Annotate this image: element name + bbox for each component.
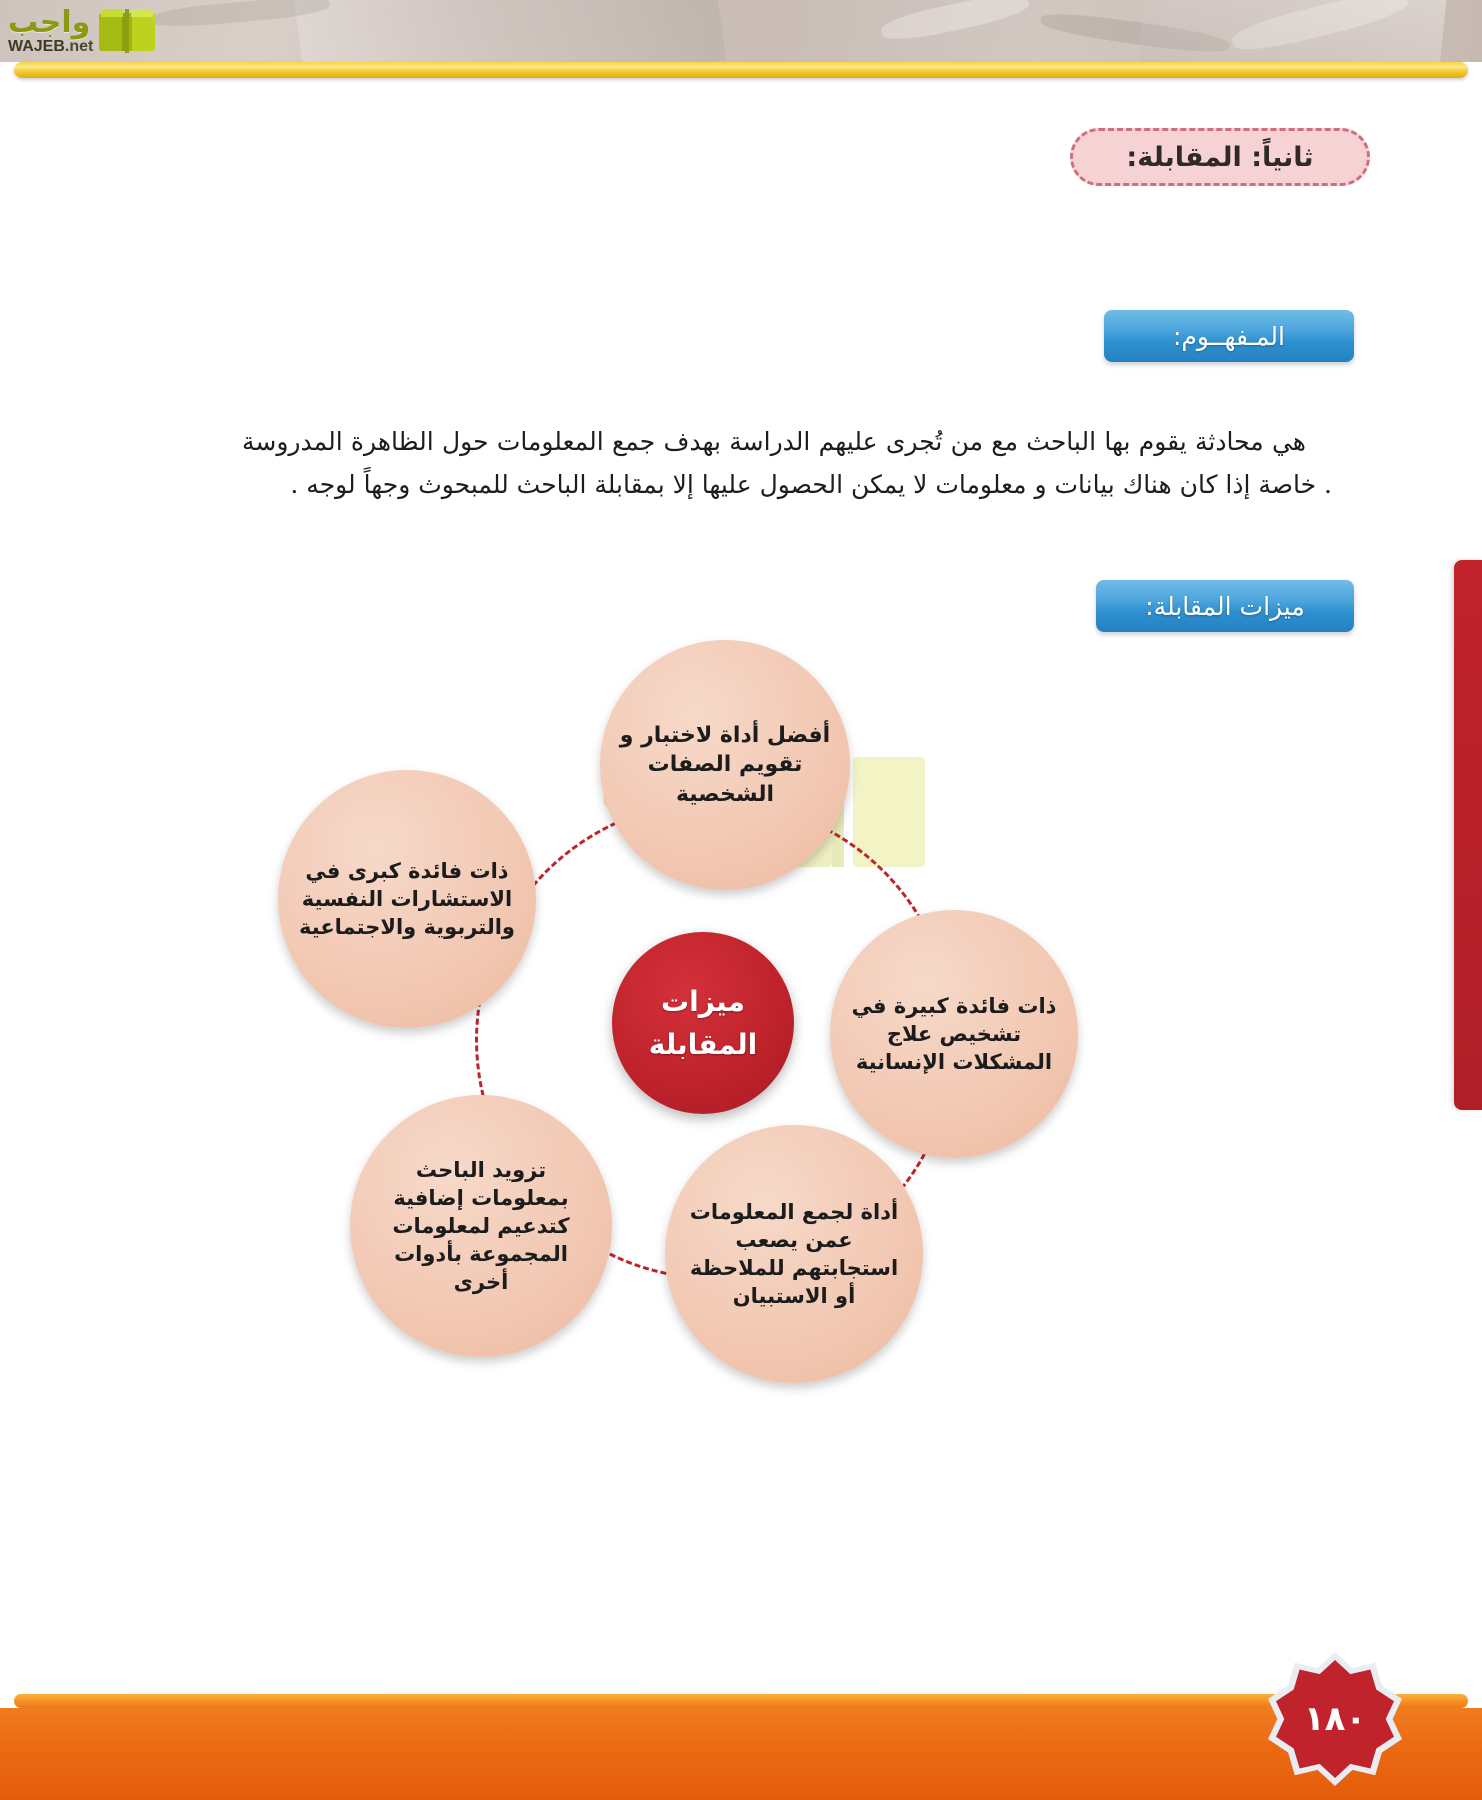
diagram-node-left: ذات فائدة كبرى في الاستشارات النفسية وال… bbox=[278, 770, 536, 1028]
watermark-book-right bbox=[853, 757, 925, 867]
page-number-text: ١٨٠ bbox=[1304, 1699, 1366, 1739]
chapter-side-tab bbox=[1454, 560, 1482, 1110]
page-footer-band bbox=[0, 1708, 1482, 1800]
logo-tld: .net bbox=[65, 38, 93, 55]
concept-paragraph-text: هي محادثة يقوم بها الباحث مع من تُجرى عل… bbox=[242, 420, 1332, 506]
book-tip-left bbox=[101, 9, 123, 17]
diagram-node-top: أفضل أداة لاختبار و تقويم الصفات الشخصية bbox=[600, 640, 850, 890]
logo-arabic-text: واجب bbox=[8, 8, 90, 38]
logo-text-block: واجب WAJEB.net bbox=[8, 8, 93, 55]
concept-heading-badge: المـفهــوم: bbox=[1104, 310, 1354, 362]
diagram-node-right: ذات فائدة كبيرة في تشخيص علاج المشكلات ا… bbox=[830, 910, 1078, 1158]
features-heading-text: ميزات المقابلة: bbox=[1145, 592, 1305, 621]
section-title-text: ثانياً: المقابلة: bbox=[1126, 142, 1313, 173]
open-book-icon bbox=[99, 9, 155, 53]
features-heading-badge: ميزات المقابلة: bbox=[1096, 580, 1354, 632]
book-page-left bbox=[99, 13, 125, 51]
book-page-right bbox=[129, 13, 155, 51]
diagram-node-top-label: أفضل أداة لاختبار و تقويم الصفات الشخصية bbox=[614, 721, 836, 809]
concept-paragraph: هي محادثة يقوم بها الباحث مع من تُجرى عل… bbox=[242, 420, 1332, 506]
textbook-page: واجب WAJEB.net ثانياً: المقابلة: المـفهـ… bbox=[0, 0, 1482, 1800]
site-logo[interactable]: واجب WAJEB.net bbox=[8, 2, 198, 60]
concept-heading-text: المـفهــوم: bbox=[1173, 322, 1285, 351]
logo-latin-text: WAJEB.net bbox=[8, 39, 93, 55]
section-title-badge: ثانياً: المقابلة: bbox=[1070, 128, 1370, 186]
diagram-node-bottom-label: أداة لجمع المعلومات عمن يصعب استجابتهم ل… bbox=[679, 1198, 909, 1311]
diagram-node-bottom: أداة لجمع المعلومات عمن يصعب استجابتهم ل… bbox=[665, 1125, 923, 1383]
book-tip-right bbox=[131, 9, 153, 17]
logo-latin-main: WAJEB bbox=[8, 38, 65, 55]
page-header-band: واجب WAJEB.net bbox=[0, 0, 1482, 62]
header-decoration bbox=[879, 0, 1031, 45]
header-decoration bbox=[1229, 0, 1411, 57]
diagram-node-left-label: ذات فائدة كبرى في الاستشارات النفسية وال… bbox=[292, 857, 522, 941]
diagram-center-label: ميزات المقابلة bbox=[612, 980, 794, 1067]
footer-gold-divider bbox=[14, 1694, 1468, 1708]
book-spine bbox=[125, 9, 129, 53]
header-gold-divider bbox=[14, 62, 1468, 78]
diagram-center-node: ميزات المقابلة bbox=[612, 932, 794, 1114]
diagram-node-right-label: ذات فائدة كبيرة في تشخيص علاج المشكلات ا… bbox=[844, 992, 1064, 1076]
diagram-node-bottom-left-label: تزويد الباحث بمعلومات إضافية كتدعيم لمعل… bbox=[364, 1156, 598, 1297]
header-decoration bbox=[1039, 9, 1230, 57]
page-number-badge: ١٨٠ bbox=[1276, 1660, 1394, 1778]
features-radial-diagram: واجب WAJEB.net أفضل أداة لاختبار و تقويم… bbox=[300, 640, 1160, 1440]
diagram-node-bottom-left: تزويد الباحث بمعلومات إضافية كتدعيم لمعل… bbox=[350, 1095, 612, 1357]
